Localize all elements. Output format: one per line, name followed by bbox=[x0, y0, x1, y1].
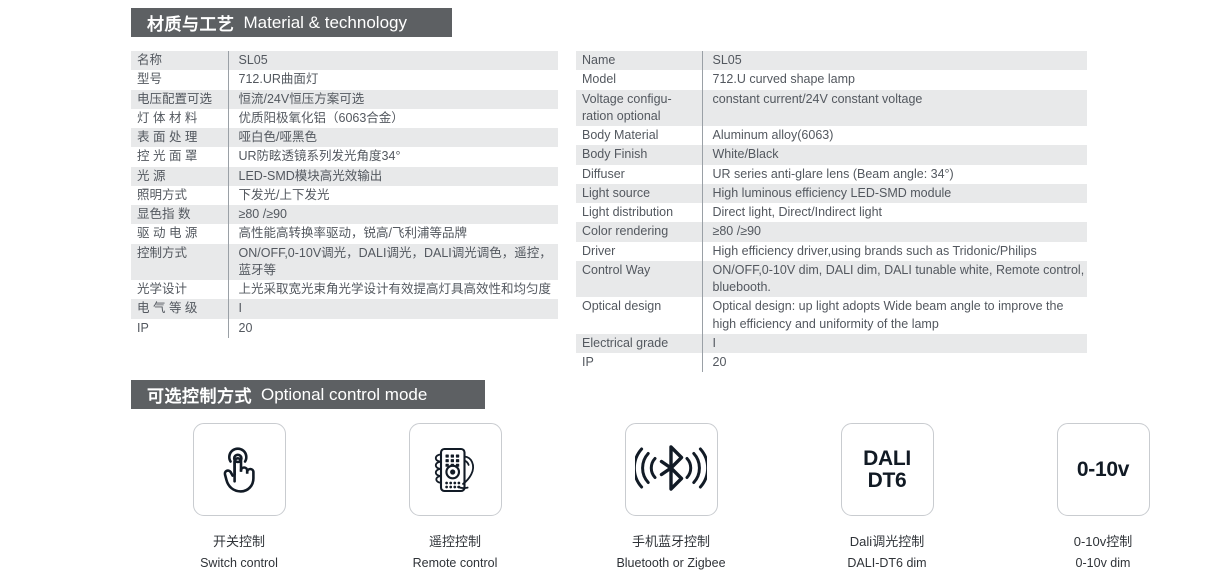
spec-row: 电压配置可选恒流/24V恒压方案可选 bbox=[131, 90, 558, 109]
spec-row: 型号712.UR曲面灯 bbox=[131, 70, 558, 89]
spec-en-key: Light distribution bbox=[576, 203, 702, 222]
spec-en-key: Diffuser bbox=[576, 165, 702, 184]
spec-en-value: 712.U curved shape lamp bbox=[702, 70, 1087, 89]
section-header-control-mode: 可选控制方式 Optional control mode bbox=[131, 380, 485, 409]
spec-table-english-body: NameSL05Model712.U curved shape lampVolt… bbox=[576, 51, 1087, 372]
spec-row: 光学设计上光采取宽光束角光学设计有效提高灯具高效性和均匀度 bbox=[131, 280, 558, 299]
spec-row: Control WayON/OFF,0-10V dim, DALI dim, D… bbox=[576, 261, 1087, 298]
spec-cn-key: IP bbox=[131, 319, 228, 338]
spec-en-value: Optical design: up light adopts Wide bea… bbox=[702, 297, 1087, 334]
spec-en-value: UR series anti-glare lens (Beam angle: 3… bbox=[702, 165, 1087, 184]
dali-dt6-icon-line2: DT6 bbox=[863, 470, 911, 491]
hand-tap-icon-box[interactable] bbox=[193, 423, 286, 516]
spec-cn-value: SL05 bbox=[228, 51, 558, 70]
hand-tap-icon bbox=[208, 439, 270, 501]
spec-row: 光 源LED-SMD模块高光效输出 bbox=[131, 167, 558, 186]
spec-row: Color rendering ≥80 /≥90 bbox=[576, 222, 1087, 241]
dali-dt6-icon-line1: DALI bbox=[863, 448, 911, 469]
spec-row: Body MaterialAluminum alloy(6063) bbox=[576, 126, 1087, 145]
spec-cn-value: 哑白色/哑黑色 bbox=[228, 128, 558, 147]
spec-en-value: ON/OFF,0-10V dim, DALI dim, DALI tunable… bbox=[702, 261, 1087, 298]
spec-cn-value: 优质阳极氧化铝（6063合金） bbox=[228, 109, 558, 128]
spec-en-value: SL05 bbox=[702, 51, 1087, 70]
spec-row: 名称SL05 bbox=[131, 51, 558, 70]
spec-cn-key: 名称 bbox=[131, 51, 228, 70]
spec-cn-value: 下发光/上下发光 bbox=[228, 186, 558, 205]
spec-row: IP20 bbox=[576, 353, 1087, 372]
control-mode-item[interactable]: DALIDT6Dali调光控制DALI-DT6 dim bbox=[779, 423, 995, 570]
spec-cn-key: 光 源 bbox=[131, 167, 228, 186]
control-mode-label-cn: Dali调光控制 bbox=[850, 531, 924, 550]
section-header-material-cn: 材质与工艺 bbox=[147, 10, 235, 35]
spec-row: IP20 bbox=[131, 319, 558, 338]
remote-control-icon-box[interactable] bbox=[409, 423, 502, 516]
spec-en-value: White/Black bbox=[702, 145, 1087, 164]
dali-dt6-icon: DALIDT6 bbox=[863, 448, 911, 491]
spec-cn-key: 控 光 面 罩 bbox=[131, 147, 228, 166]
spec-cn-value: 712.UR曲面灯 bbox=[228, 70, 558, 89]
spec-en-key: Optical design bbox=[576, 297, 702, 334]
spec-en-key: Body Material bbox=[576, 126, 702, 145]
spec-cn-key: 电 气 等 级 bbox=[131, 299, 228, 318]
spec-en-key: Control Way bbox=[576, 261, 702, 298]
section-header-material: 材质与工艺 Material & technology bbox=[131, 8, 452, 37]
spec-en-value: constant current/24V constant voltage bbox=[702, 90, 1087, 127]
spec-row: Body FinishWhite/Black bbox=[576, 145, 1087, 164]
control-mode-label-en: 0-10v dim bbox=[1076, 556, 1131, 570]
spec-cn-key: 控制方式 bbox=[131, 244, 228, 281]
spec-cn-key: 照明方式 bbox=[131, 186, 228, 205]
spec-row: 控 光 面 罩UR防眩透镜系列发光角度34° bbox=[131, 147, 558, 166]
bluetooth-icon-box[interactable] bbox=[625, 423, 718, 516]
spec-en-key: Color rendering bbox=[576, 222, 702, 241]
spec-cn-value: 20 bbox=[228, 319, 558, 338]
spec-en-key: Light source bbox=[576, 184, 702, 203]
spec-cn-value: I bbox=[228, 299, 558, 318]
control-mode-label-en: Bluetooth or Zigbee bbox=[616, 556, 725, 570]
control-mode-item[interactable]: 0-10v0-10v控制0-10v dim bbox=[995, 423, 1211, 570]
control-mode-label-en: DALI-DT6 dim bbox=[847, 556, 926, 570]
spec-en-value: High luminous efficiency LED-SMD module bbox=[702, 184, 1087, 203]
spec-row: 表 面 处 理哑白色/哑黑色 bbox=[131, 128, 558, 147]
spec-table-english: NameSL05Model712.U curved shape lampVolt… bbox=[576, 51, 1087, 372]
spec-en-value: I bbox=[702, 334, 1087, 353]
spec-en-key: Name bbox=[576, 51, 702, 70]
control-mode-label-en: Switch control bbox=[200, 556, 278, 570]
spec-row: Optical designOptical design: up light a… bbox=[576, 297, 1087, 334]
spec-cn-key: 型号 bbox=[131, 70, 228, 89]
spec-table-chinese-body: 名称SL05型号712.UR曲面灯电压配置可选恒流/24V恒压方案可选灯 体 材… bbox=[131, 51, 558, 338]
control-mode-label-cn: 遥控控制 bbox=[429, 531, 481, 550]
spec-en-value: High efficiency driver,using brands such… bbox=[702, 242, 1087, 261]
spec-cn-key: 灯 体 材 料 bbox=[131, 109, 228, 128]
spec-cn-key: 电压配置可选 bbox=[131, 90, 228, 109]
section-header-material-en: Material & technology bbox=[244, 13, 407, 33]
spec-en-key: Electrical grade bbox=[576, 334, 702, 353]
spec-cn-value: UR防眩透镜系列发光角度34° bbox=[228, 147, 558, 166]
spec-cn-key: 表 面 处 理 bbox=[131, 128, 228, 147]
spec-row: 显色指 数≥80 /≥90 bbox=[131, 205, 558, 224]
spec-cn-value: LED-SMD模块高光效输出 bbox=[228, 167, 558, 186]
dali-dt6-icon-box[interactable]: DALIDT6 bbox=[841, 423, 934, 516]
spec-row: 驱 动 电 源高性能高转换率驱动，锐高/飞利浦等品牌 bbox=[131, 224, 558, 243]
spec-en-key: Driver bbox=[576, 242, 702, 261]
spec-cn-value: 上光采取宽光束角光学设计有效提高灯具高效性和均匀度 bbox=[228, 280, 558, 299]
control-mode-item[interactable]: 手机蓝牙控制Bluetooth or Zigbee bbox=[563, 423, 779, 570]
spec-row: 灯 体 材 料优质阳极氧化铝（6063合金） bbox=[131, 109, 558, 128]
spec-en-key: IP bbox=[576, 353, 702, 372]
section-header-control-mode-en: Optional control mode bbox=[261, 385, 427, 405]
spec-cn-key: 驱 动 电 源 bbox=[131, 224, 228, 243]
spec-en-value: 20 bbox=[702, 353, 1087, 372]
control-mode-label-en: Remote control bbox=[413, 556, 498, 570]
spec-row: 照明方式下发光/上下发光 bbox=[131, 186, 558, 205]
zero-to-ten-volt-icon-box[interactable]: 0-10v bbox=[1057, 423, 1150, 516]
spec-row: NameSL05 bbox=[576, 51, 1087, 70]
spec-row: Light sourceHigh luminous efficiency LED… bbox=[576, 184, 1087, 203]
control-mode-list: 开关控制Switch control遥控控制Remote control手机蓝牙… bbox=[131, 423, 1211, 570]
spec-en-key: Model bbox=[576, 70, 702, 89]
spec-en-key: Body Finish bbox=[576, 145, 702, 164]
spec-en-value: Direct light, Direct/Indirect light bbox=[702, 203, 1087, 222]
control-mode-label-cn: 0-10v控制 bbox=[1074, 531, 1133, 550]
spec-en-value: Aluminum alloy(6063) bbox=[702, 126, 1087, 145]
zero-to-ten-volt-icon: 0-10v bbox=[1077, 459, 1129, 480]
bluetooth-icon bbox=[635, 439, 707, 501]
spec-cn-key: 光学设计 bbox=[131, 280, 228, 299]
spec-row: Voltage configu-ration optionalconstant … bbox=[576, 90, 1087, 127]
spec-row: 控制方式ON/OFF,0-10V调光，DALI调光，DALI调光调色，遥控，蓝牙… bbox=[131, 244, 558, 281]
spec-cn-value: ON/OFF,0-10V调光，DALI调光，DALI调光调色，遥控，蓝牙等 bbox=[228, 244, 558, 281]
spec-cn-value: 高性能高转换率驱动，锐高/飞利浦等品牌 bbox=[228, 224, 558, 243]
spec-row: DriverHigh efficiency driver,using brand… bbox=[576, 242, 1087, 261]
spec-en-key: Voltage configu-ration optional bbox=[576, 90, 702, 127]
spec-cn-value: ≥80 /≥90 bbox=[228, 205, 558, 224]
spec-row: Model712.U curved shape lamp bbox=[576, 70, 1087, 89]
section-header-control-mode-cn: 可选控制方式 bbox=[147, 382, 252, 407]
control-mode-label-cn: 开关控制 bbox=[213, 531, 265, 550]
zero-to-ten-volt-icon-line1: 0-10v bbox=[1077, 459, 1129, 480]
spec-table-chinese: 名称SL05型号712.UR曲面灯电压配置可选恒流/24V恒压方案可选灯 体 材… bbox=[131, 51, 558, 338]
spec-en-value: ≥80 /≥90 bbox=[702, 222, 1087, 241]
remote-control-icon bbox=[424, 439, 486, 501]
spec-row: Electrical gradeI bbox=[576, 334, 1087, 353]
control-mode-item[interactable]: 遥控控制Remote control bbox=[347, 423, 563, 570]
spec-cn-key: 显色指 数 bbox=[131, 205, 228, 224]
spec-row: 电 气 等 级I bbox=[131, 299, 558, 318]
spec-cn-value: 恒流/24V恒压方案可选 bbox=[228, 90, 558, 109]
spec-row: Light distributionDirect light, Direct/I… bbox=[576, 203, 1087, 222]
spec-row: DiffuserUR series anti-glare lens (Beam … bbox=[576, 165, 1087, 184]
control-mode-label-cn: 手机蓝牙控制 bbox=[632, 531, 710, 550]
control-mode-item[interactable]: 开关控制Switch control bbox=[131, 423, 347, 570]
